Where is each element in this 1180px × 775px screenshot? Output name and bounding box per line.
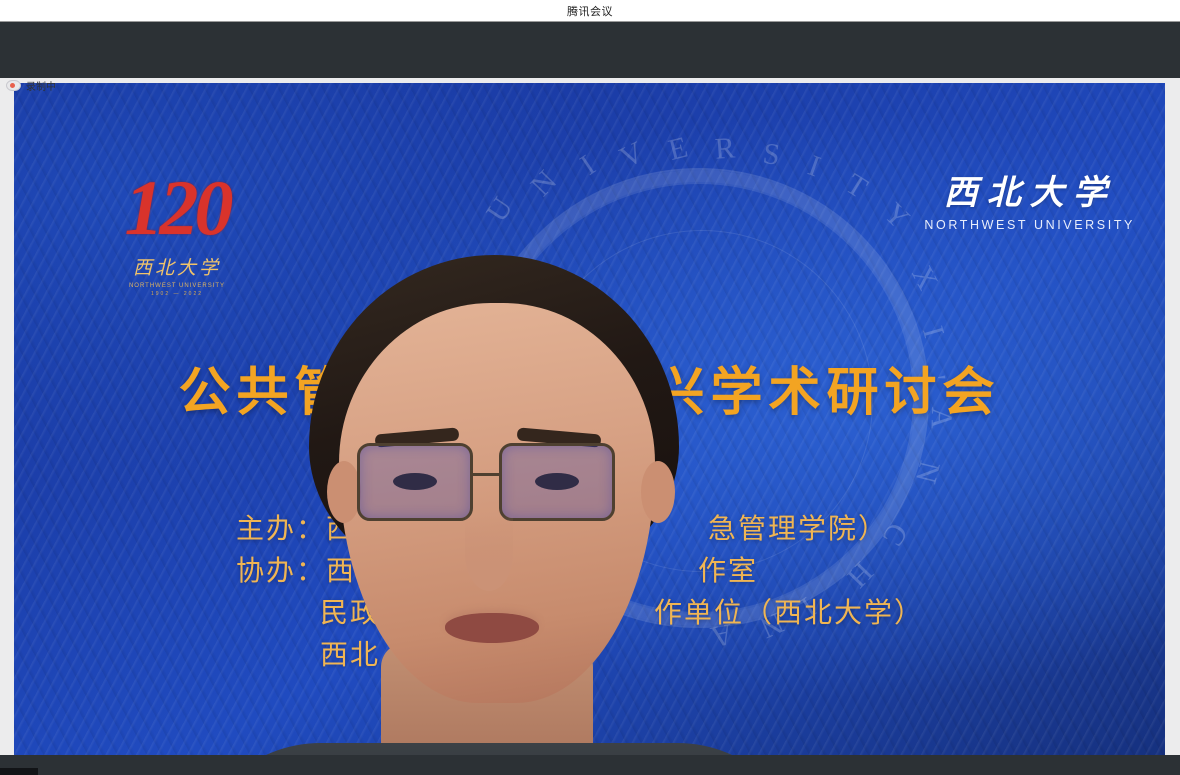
shared-slide[interactable]: U N I V E R S I T Y X I ' A N C H I N A: [14, 83, 1165, 755]
taskbar-tab-indicator[interactable]: [0, 768, 38, 775]
credit-line: 主办：西北急管理学院）: [236, 508, 924, 550]
credit-prefix: 主办：西北: [236, 513, 386, 544]
university-logo: 西北大学 NORTHWEST UNIVERSITY: [924, 165, 1135, 232]
presenter-eyebrow-right: [517, 427, 602, 447]
anniversary-en-name: NORTHWEST UNIVERSITY: [102, 283, 252, 289]
university-cn-name: 西北大学: [924, 165, 1135, 214]
anniversary-years: 1902 — 2022: [102, 291, 252, 297]
window-title: 腾讯会议: [567, 3, 613, 19]
slide-title: 公共管兴学术研讨会: [14, 365, 1165, 422]
university-en-name: NORTHWEST UNIVERSITY: [924, 218, 1135, 232]
anniversary-cn-name: 西北大学: [102, 253, 252, 280]
slide-credits: 主办：西北急管理学院） 协办：西北作室 民政部作单位（西北大学） 西北: [236, 508, 924, 676]
recording-status-label: 录制中: [26, 78, 56, 93]
anniversary-logo: 120 西北大学 NORTHWEST UNIVERSITY 1902 — 202…: [102, 169, 252, 324]
recording-indicator-icon: [6, 80, 21, 91]
presenter-eye-right: [535, 473, 579, 490]
credit-line: 协办：西北作室: [236, 550, 924, 592]
slide-title-left: 公共管: [178, 364, 352, 422]
presenter-jacket: [189, 743, 809, 755]
credit-prefix: 民政部: [320, 597, 410, 628]
anniversary-mark: 120: [102, 169, 252, 247]
slide-title-right: 兴学术研讨会: [653, 364, 1001, 422]
credit-suffix: 作室: [698, 555, 758, 586]
window-titlebar: 腾讯会议: [0, 0, 1180, 22]
meeting-bottom-bar: [0, 755, 1180, 775]
meeting-app-chrome: 录制中 U N I V E R S I T Y X I ' A N C: [0, 23, 1180, 752]
presenter-glasses-bridge: [473, 473, 499, 476]
credit-suffix: 作单位（西北大学）: [654, 597, 924, 628]
credit-prefix: 西北: [320, 639, 380, 670]
credit-line: 民政部作单位（西北大学）: [236, 592, 924, 634]
credit-suffix: 急管理学院）: [708, 513, 888, 544]
credit-line: 西北: [236, 634, 924, 676]
credit-prefix: 协办：西北: [236, 555, 386, 586]
recording-status-badge[interactable]: 录制中: [6, 77, 56, 93]
presenter-eye-left: [393, 473, 437, 490]
presenter-eyebrow-left: [375, 427, 460, 447]
